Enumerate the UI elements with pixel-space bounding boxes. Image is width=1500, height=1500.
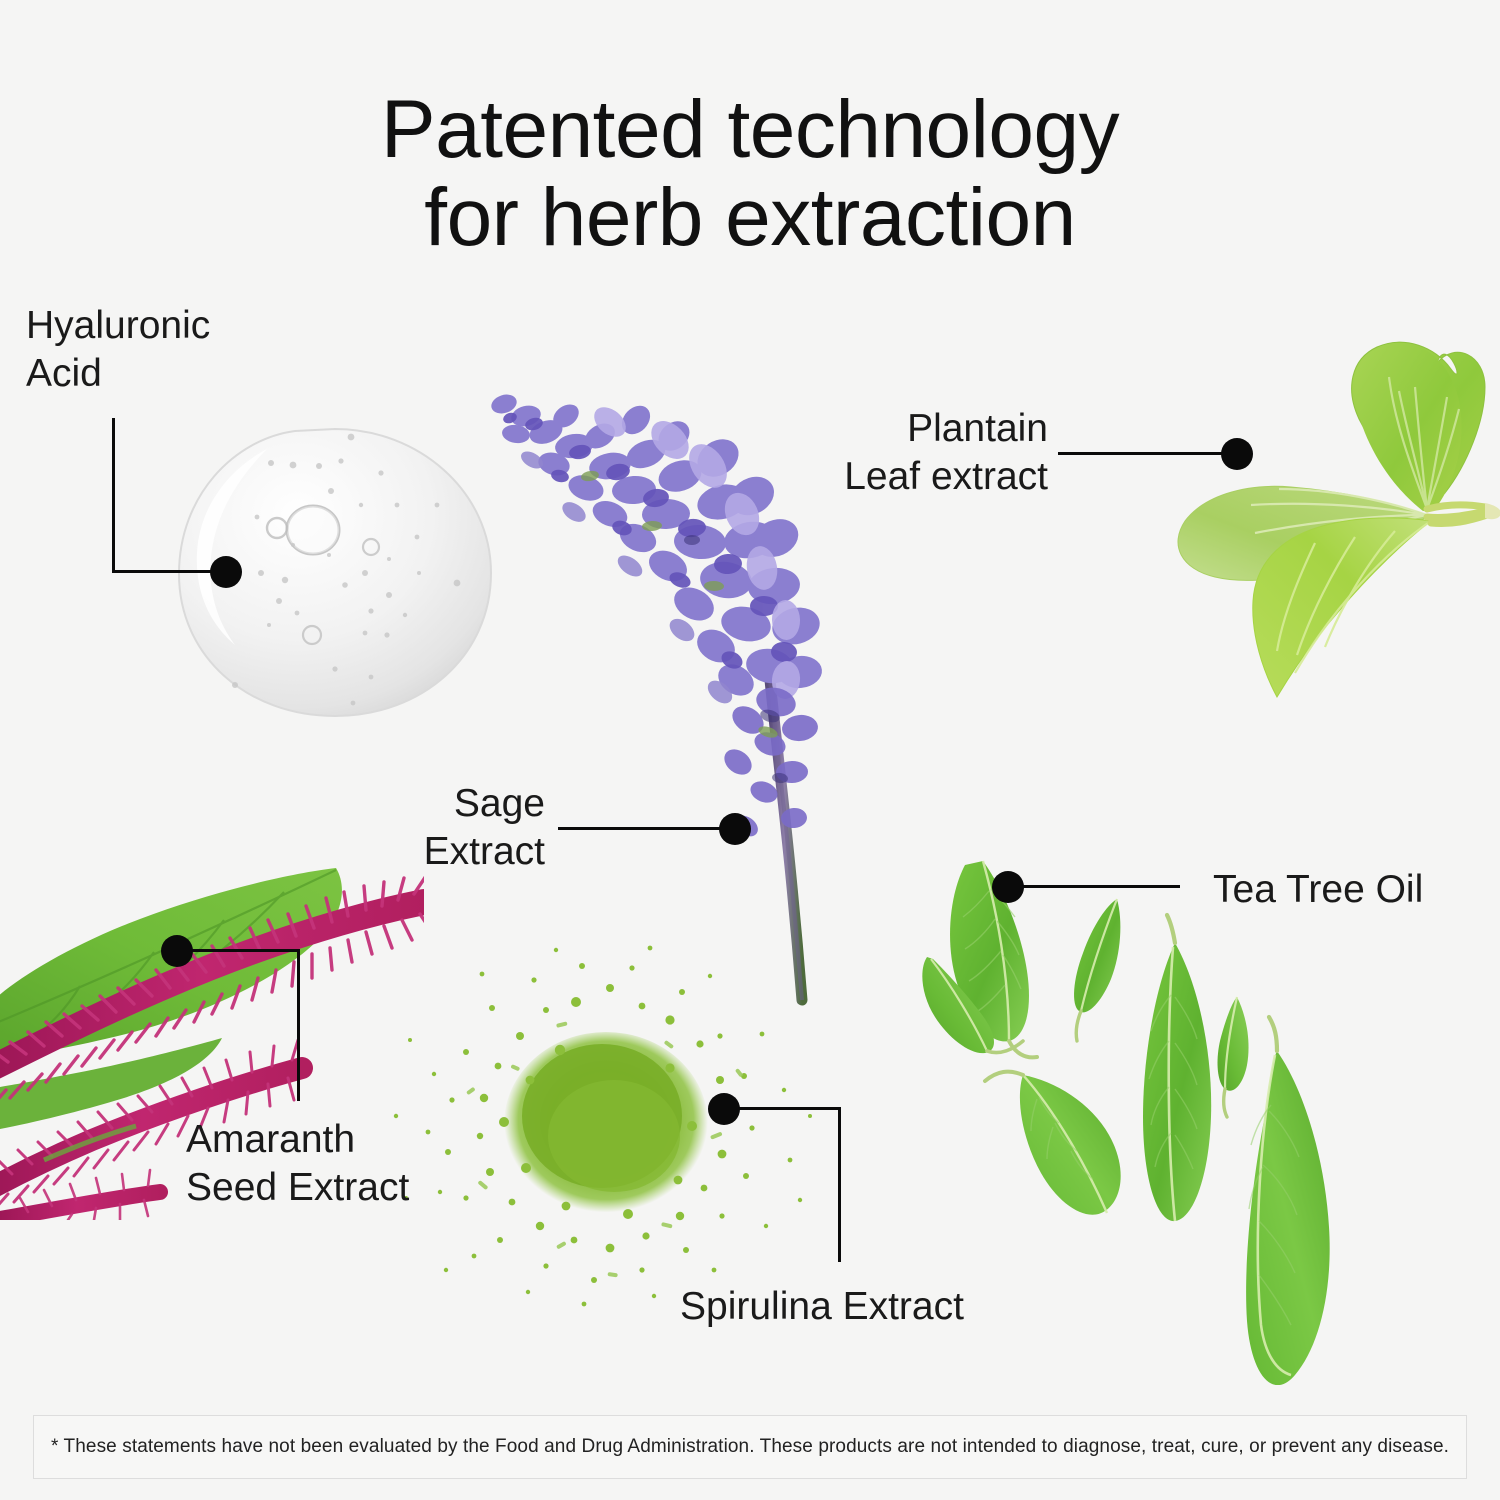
leader-line-plantain <box>1058 452 1238 455</box>
callout-dot-hyaluronic-acid[interactable] <box>210 556 242 588</box>
page-title: Patented technology for herb extraction <box>0 86 1500 261</box>
plantain-leaf-icon <box>1155 325 1500 705</box>
callout-dot-spirulina-extract[interactable] <box>708 1093 740 1125</box>
leader-line-sage <box>558 827 736 830</box>
callout-label-hyaluronic-acid: Hyaluronic Acid <box>26 302 210 399</box>
leader-line-tea-tree <box>1012 885 1180 888</box>
callout-dot-plantain-leaf-extract[interactable] <box>1221 438 1253 470</box>
disclaimer-box: * These statements have not been evaluat… <box>33 1415 1467 1479</box>
leader-line-spirulina-vertical <box>838 1107 841 1262</box>
callout-dot-tea-tree-oil[interactable] <box>992 871 1024 903</box>
callout-label-amaranth-seed-extract: Amaranth Seed Extract <box>186 1116 409 1213</box>
callout-label-sage-extract: Sage Extract <box>330 780 545 877</box>
callout-label-spirulina-extract: Spirulina Extract <box>680 1283 964 1331</box>
leader-line-amaranth-vertical <box>297 949 300 1101</box>
callout-dot-sage-extract[interactable] <box>719 813 751 845</box>
leader-line-amaranth-horizontal <box>190 949 300 952</box>
infographic-canvas: Patented technology for herb extraction <box>0 0 1500 1500</box>
callout-label-tea-tree-oil: Tea Tree Oil <box>1213 866 1423 914</box>
leader-line-hyaluronic-acid-vertical <box>112 418 115 573</box>
tea-tree-leaf-icon <box>905 855 1365 1385</box>
callout-label-plantain-leaf-extract: Plantain Leaf extract <box>700 405 1048 502</box>
spirulina-powder-icon <box>370 940 840 1310</box>
disclaimer-text: * These statements have not been evaluat… <box>37 1436 1463 1458</box>
callout-dot-amaranth-seed-extract[interactable] <box>161 935 193 967</box>
leader-line-spirulina-horizontal <box>733 1107 841 1110</box>
